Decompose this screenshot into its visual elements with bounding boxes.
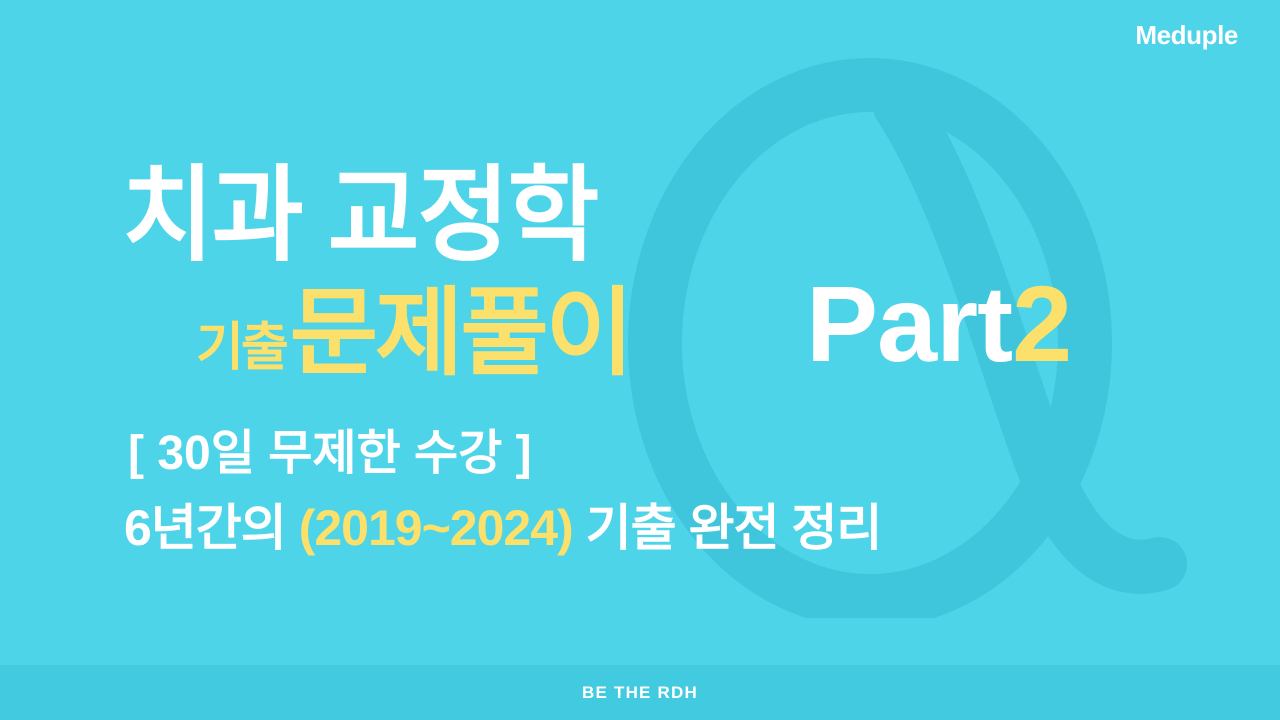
coverage-suffix: 기출 완전 정리 xyxy=(573,500,882,556)
coverage-note: 6년간의 (2019~2024) 기출 완전 정리 xyxy=(124,503,881,553)
part-badge-word: Part xyxy=(806,263,1012,384)
part-badge: Part2 xyxy=(806,270,1071,378)
poster-content: 치과 교정학 기출 문제풀이 Part2 [ 30일 무제한 수강 ] 6년간의… xyxy=(0,0,1280,665)
coverage-year-range: (2019~2024) xyxy=(299,500,573,556)
poster-canvas: Meduple 치과 교정학 기출 문제풀이 Part2 [ 30일 무제한 수… xyxy=(0,0,1280,720)
page-title: 치과 교정학 xyxy=(122,164,597,268)
brand-logo: Meduple xyxy=(1135,22,1238,48)
unlimited-access-note: [ 30일 무제한 수강 ] xyxy=(128,430,532,478)
subtitle-heading: 기출 문제풀이 xyxy=(196,286,631,382)
footer-tagline: BE THE RDH xyxy=(582,683,698,703)
label-past-exam: 기출 xyxy=(196,322,286,382)
coverage-prefix: 6년간의 xyxy=(124,500,299,556)
part-badge-number: 2 xyxy=(1012,263,1071,384)
footer-bar: BE THE RDH xyxy=(0,665,1280,720)
label-problem-solving: 문제풀이 xyxy=(290,286,631,382)
